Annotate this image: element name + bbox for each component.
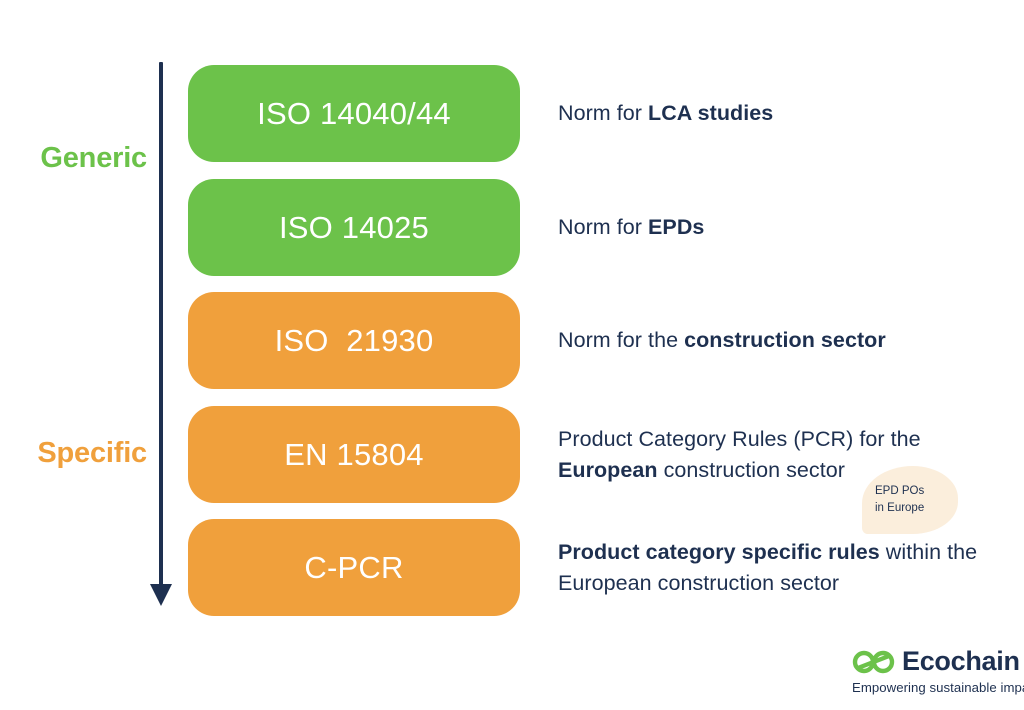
desc-prefix: Norm for	[558, 101, 648, 125]
badge-line-2: in Europe	[869, 500, 961, 517]
desc-prefix: Product Category Rules (PCR) for the	[558, 427, 921, 451]
standard-row: ISO 21930 Norm for the construction sect…	[188, 292, 1008, 389]
standard-description: Norm for LCA studies	[558, 98, 1008, 129]
desc-bold: Product category specific rules	[558, 540, 880, 564]
epd-pos-europe-badge: EPD POs in Europe	[862, 466, 958, 534]
desc-bold: European	[558, 458, 658, 482]
standard-pill-iso-14025[interactable]: ISO 14025	[188, 179, 520, 276]
standard-pill-iso-21930[interactable]: ISO 21930	[188, 292, 520, 389]
badge-line-1: EPD POs	[869, 483, 961, 500]
standard-pill-en-15804[interactable]: EN 15804	[188, 406, 520, 503]
desc-bold: EPDs	[648, 215, 704, 239]
standard-description: Product category specific rules within t…	[558, 537, 1008, 598]
standard-row: ISO 14025 Norm for EPDs	[188, 179, 1008, 276]
desc-bold: LCA studies	[648, 101, 773, 125]
desc-prefix: Norm for	[558, 215, 648, 239]
ecochain-wordmark: Ecochain	[902, 646, 1020, 677]
standard-description: Norm for EPDs	[558, 212, 1008, 243]
arrow-shaft	[159, 62, 163, 592]
standard-pill-iso-14040-44[interactable]: ISO 14040/44	[188, 65, 520, 162]
ecochain-tagline: Empowering sustainable impact	[852, 680, 1024, 695]
desc-bold: construction sector	[684, 328, 886, 352]
ecochain-logo: Ecochain Empowering sustainable impact	[852, 648, 1014, 698]
desc-prefix: Norm for the	[558, 328, 684, 352]
scale-label-generic: Generic	[40, 142, 147, 175]
scale-label-specific: Specific	[37, 437, 147, 470]
badge-text: EPD POs in Europe	[862, 466, 958, 534]
standard-pill-c-pcr[interactable]: C-PCR	[188, 519, 520, 616]
infinity-chain-icon	[852, 650, 896, 674]
desc-suffix: construction sector	[658, 458, 845, 482]
generic-to-specific-arrow	[156, 62, 166, 620]
standard-row: ISO 14040/44 Norm for LCA studies	[188, 65, 1008, 162]
arrow-head-icon	[150, 584, 172, 606]
standard-description: Norm for the construction sector	[558, 325, 1008, 356]
